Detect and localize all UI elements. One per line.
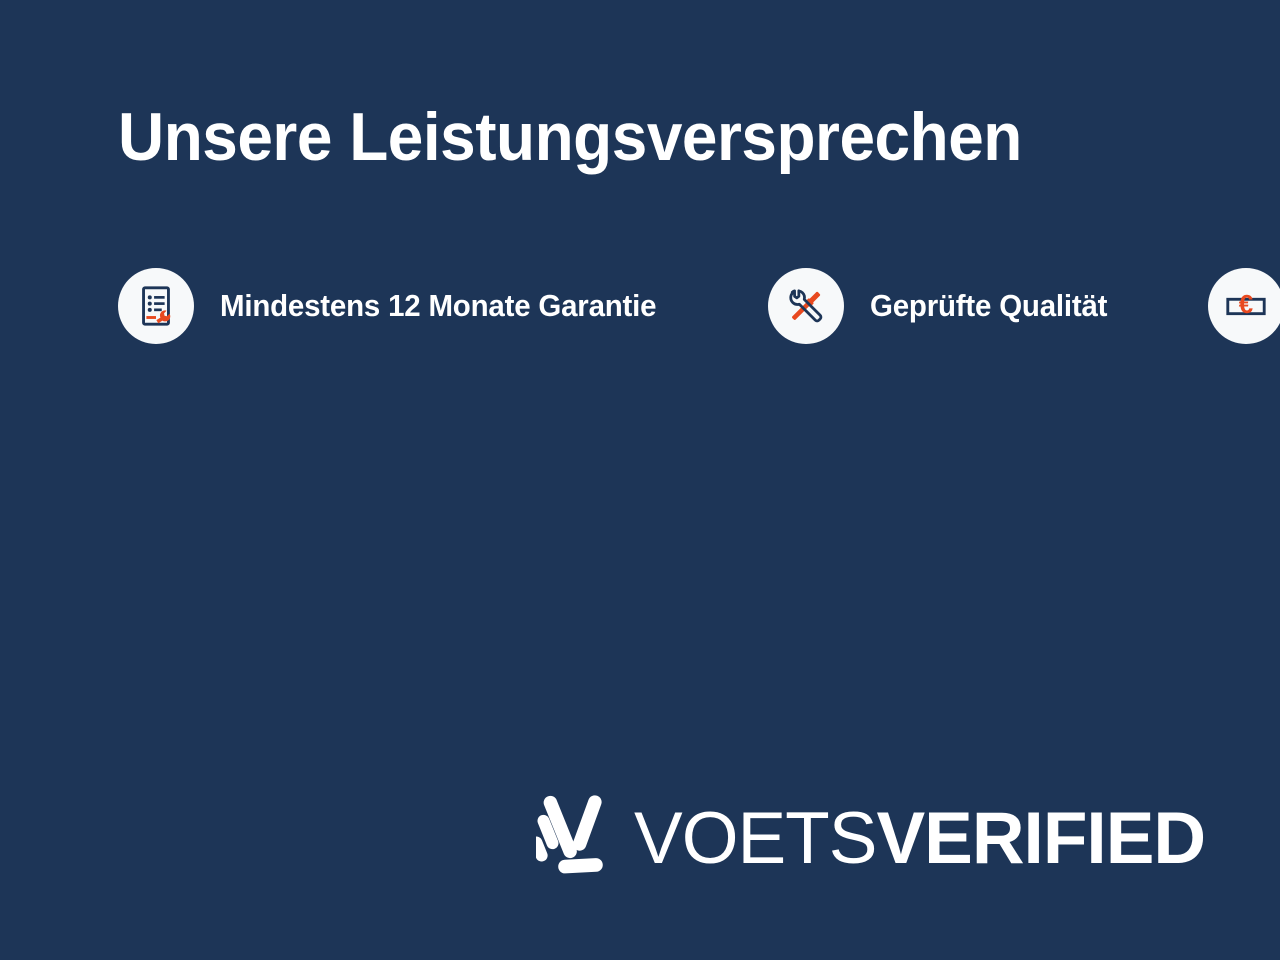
voets-verified-logo: VOETSVERIFIED: [536, 795, 1205, 881]
logo-verified: VERIFIED: [876, 802, 1205, 875]
feature-label: Geprüfte Qualität: [870, 288, 1107, 324]
voets-check-mark-icon: [536, 795, 612, 881]
feature-item-garantie: Mindestens 12 Monate Garantie: [118, 252, 768, 359]
banknote-euro-icon: €: [1208, 268, 1280, 344]
promo-banner: Unsere Leistungsversprechen Mindestens 1…: [0, 0, 1280, 960]
feature-label: Mindestens 12 Monate Garantie: [220, 288, 656, 324]
logo-wordmark: VOETSVERIFIED: [634, 802, 1205, 875]
logo-voets: VOETS: [634, 802, 876, 875]
feature-item-finanzierung: € Finanzierung: [1208, 252, 1280, 359]
feature-list: Mindestens 12 Monate Garantie Geprüfte Q…: [118, 252, 1208, 359]
page-title: Unsere Leistungsversprechen: [118, 103, 1143, 171]
feature-item-qualitaet: Geprüfte Qualität: [768, 252, 1208, 359]
wrench-screwdriver-icon: [768, 268, 844, 344]
svg-text:€: €: [1239, 291, 1253, 319]
document-wrench-icon: [118, 268, 194, 344]
